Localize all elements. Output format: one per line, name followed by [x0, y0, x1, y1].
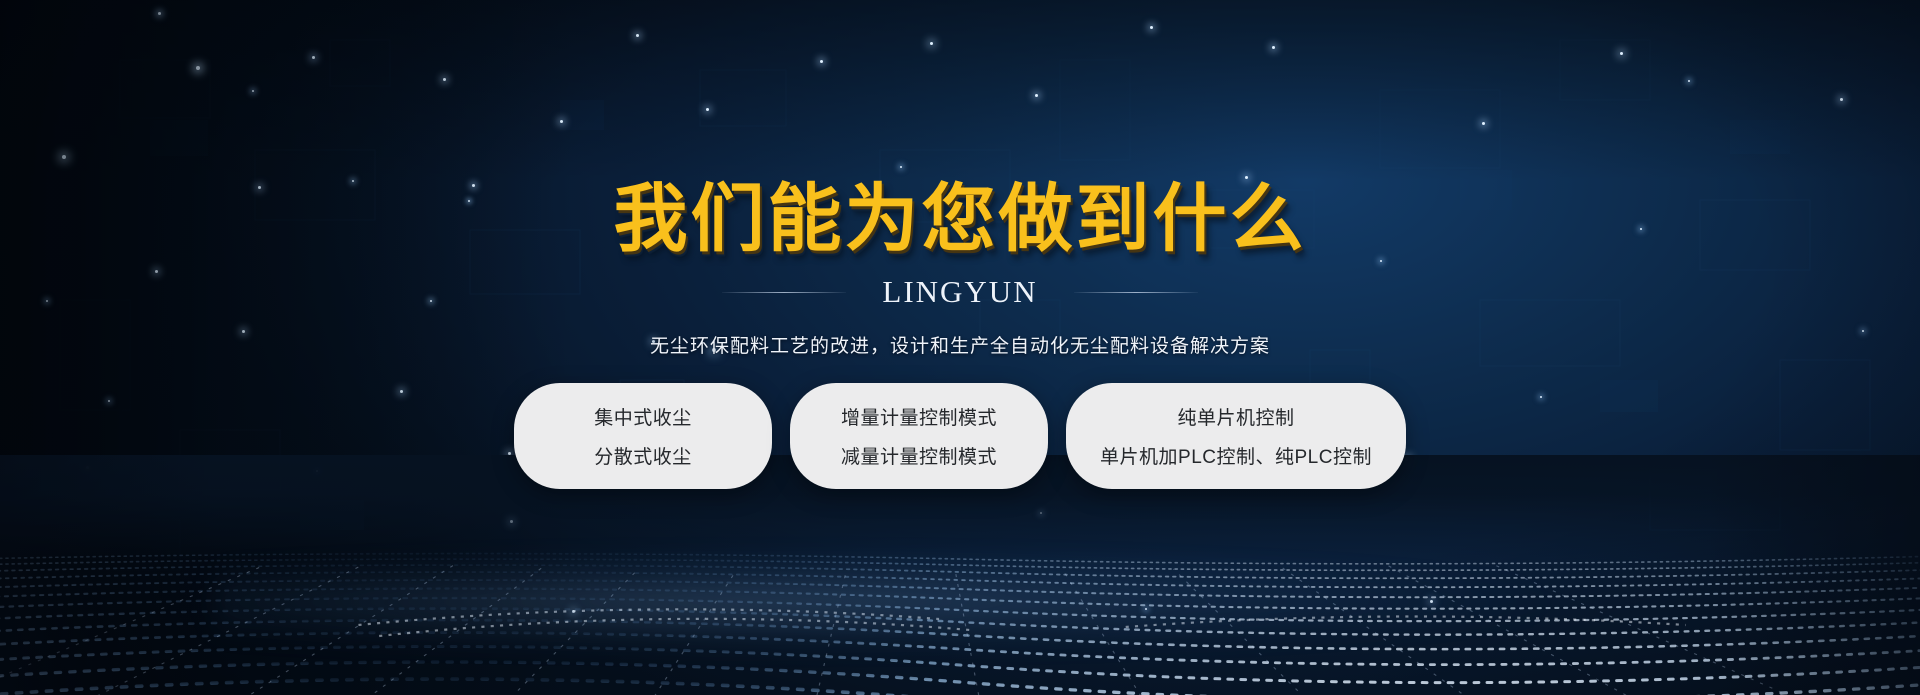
- feature-card-list: 集中式收尘 分散式收尘 增量计量控制模式 减量计量控制模式 纯单片机控制 单片机…: [514, 383, 1406, 489]
- feature-card-control-system[interactable]: 纯单片机控制 单片机加PLC控制、纯PLC控制: [1066, 383, 1406, 489]
- feature-card-metering-mode[interactable]: 增量计量控制模式 减量计量控制模式: [790, 383, 1048, 489]
- hero-banner: 我们能为您做到什么 LINGYUN 无尘环保配料工艺的改进，设计和生产全自动化无…: [0, 0, 1920, 695]
- brand-name: LINGYUN: [882, 274, 1037, 310]
- card-line-primary: 增量计量控制模式: [841, 403, 997, 430]
- divider-line-left: [722, 292, 846, 293]
- card-line-primary: 纯单片机控制: [1177, 403, 1294, 430]
- page-title: 我们能为您做到什么: [614, 182, 1307, 256]
- divider-line-right: [1074, 292, 1198, 293]
- page-subtitle: 无尘环保配料工艺的改进，设计和生产全自动化无尘配料设备解决方案: [650, 331, 1270, 358]
- brand-eyebrow-row: LINGYUN: [722, 274, 1197, 310]
- card-line-primary: 集中式收尘: [594, 403, 692, 430]
- card-line-secondary: 分散式收尘: [594, 442, 692, 469]
- card-line-secondary: 单片机加PLC控制、纯PLC控制: [1100, 442, 1372, 469]
- card-line-secondary: 减量计量控制模式: [841, 442, 997, 469]
- feature-card-dust-collection[interactable]: 集中式收尘 分散式收尘: [514, 383, 772, 489]
- banner-content: 我们能为您做到什么 LINGYUN 无尘环保配料工艺的改进，设计和生产全自动化无…: [0, 0, 1920, 695]
